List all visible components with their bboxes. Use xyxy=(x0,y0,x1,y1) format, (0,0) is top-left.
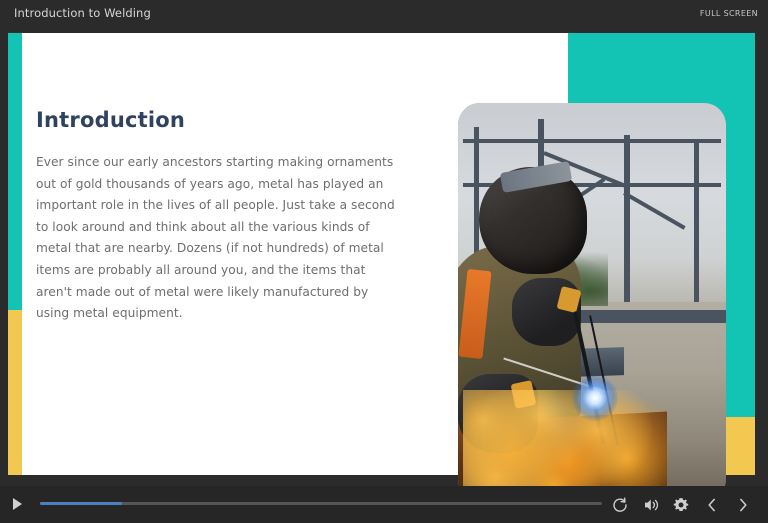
accent-bar-left-yellow xyxy=(8,310,23,475)
slide-stage: Introduction Ever since our early ancest… xyxy=(0,27,768,486)
photo-steel-column xyxy=(694,143,699,302)
course-player-window: Introduction to Welding FULL SCREEN Intr… xyxy=(0,0,768,523)
chevron-left-icon[interactable] xyxy=(702,495,722,515)
photo-steel-column xyxy=(624,135,630,302)
photo-sparks xyxy=(463,390,667,486)
replay-icon[interactable] xyxy=(610,495,630,515)
photo-glove-cuff xyxy=(556,286,580,313)
photo-welding-arc xyxy=(572,375,618,421)
slide-heading: Introduction xyxy=(36,108,185,132)
chevron-right-icon[interactable] xyxy=(733,495,753,515)
photo-steel-beam xyxy=(463,139,720,143)
photo-welder-glove xyxy=(512,278,582,346)
play-icon[interactable] xyxy=(11,497,25,512)
player-control-bar xyxy=(0,486,768,523)
volume-icon[interactable] xyxy=(641,495,661,515)
fullscreen-button[interactable]: FULL SCREEN xyxy=(700,0,758,27)
progress-scrubber[interactable] xyxy=(40,502,602,505)
course-title: Introduction to Welding xyxy=(14,0,151,27)
gear-icon[interactable] xyxy=(671,495,691,515)
top-bar: Introduction to Welding FULL SCREEN xyxy=(0,0,768,28)
welding-photo xyxy=(458,103,726,486)
accent-bar-left-teal xyxy=(8,33,23,310)
slide-body-text: Ever since our early ancestors starting … xyxy=(36,152,401,325)
progress-fill xyxy=(40,502,122,505)
